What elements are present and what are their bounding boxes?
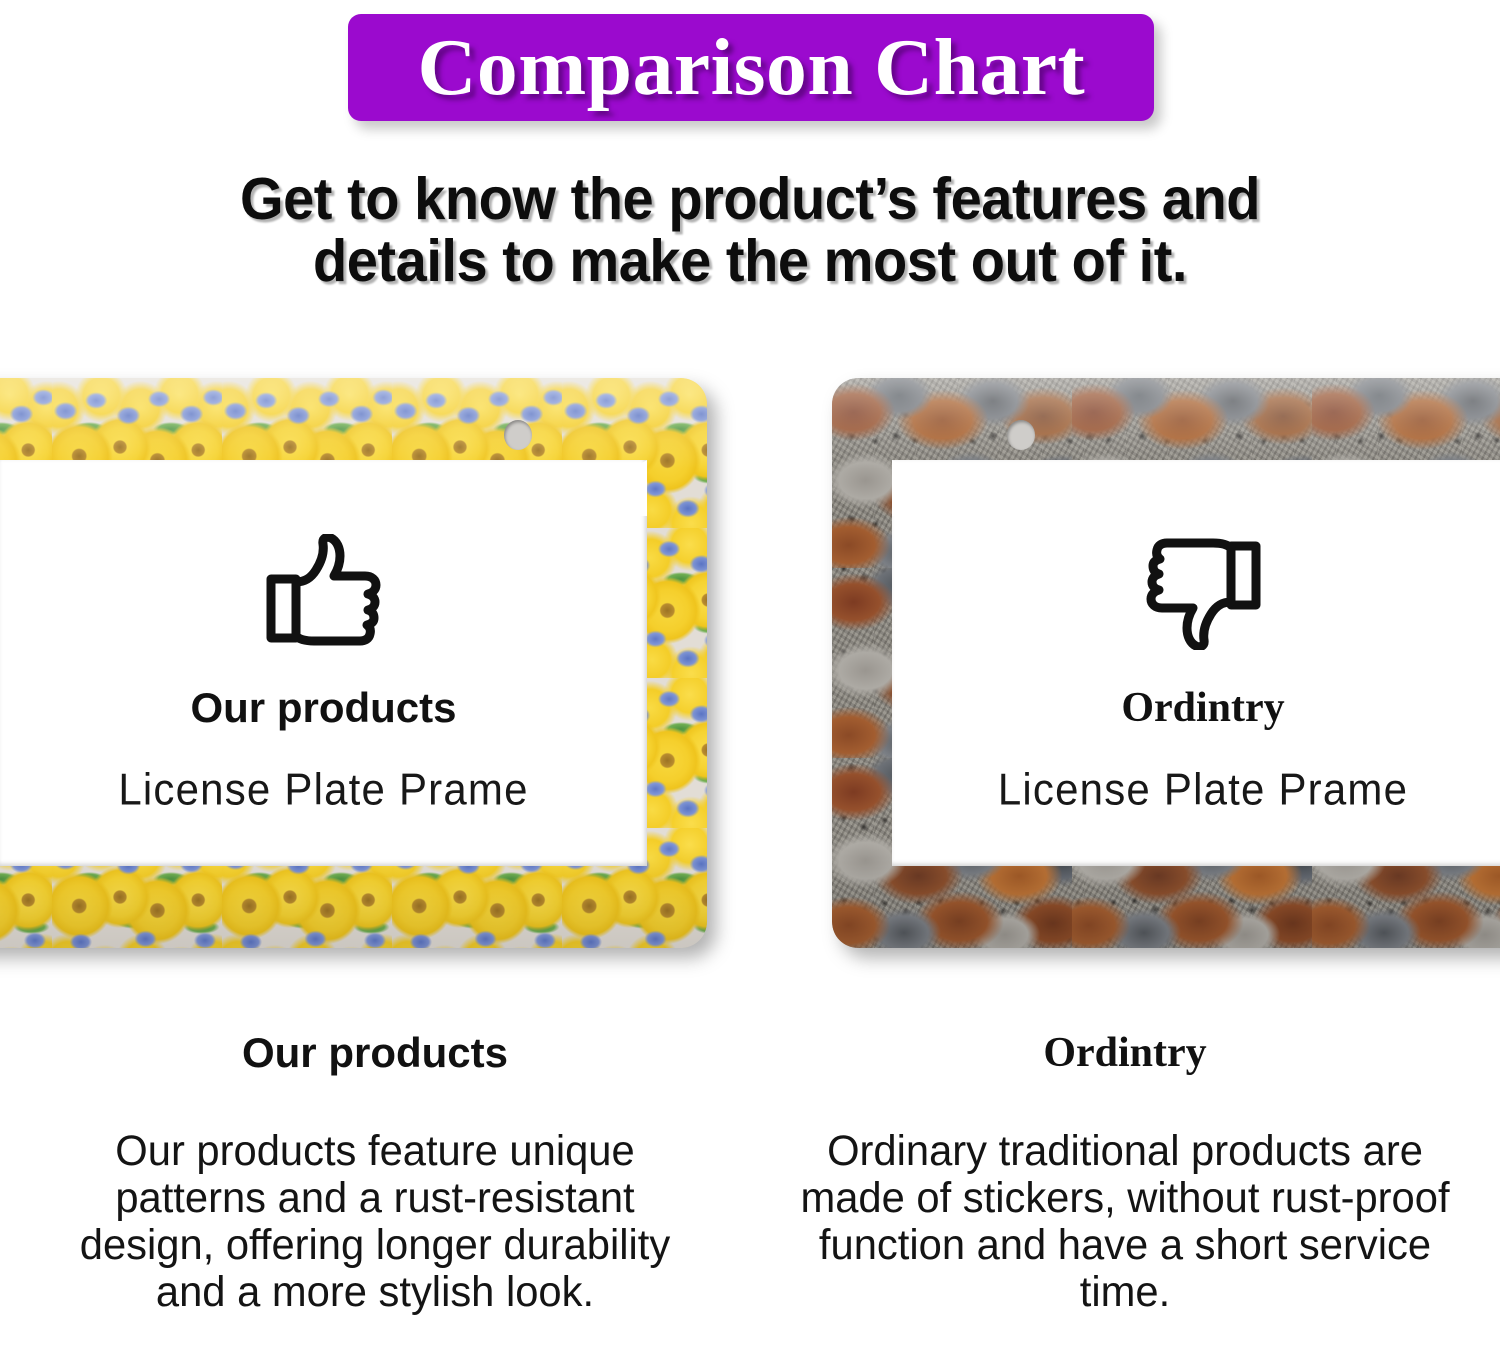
right-frame-subheading: License Plate Prame — [998, 765, 1408, 815]
left-frame-subheading: License Plate Prame — [118, 765, 528, 815]
comparison-description-row: Our products Our products feature unique… — [0, 1030, 1500, 1316]
plate-window-left: Our products License Plate Prame — [0, 460, 647, 866]
ordintry-heading: Ordintry — [750, 1030, 1500, 1076]
right-window-content: Ordintry License Plate Prame — [892, 460, 1500, 866]
right-frame-heading: Ordintry — [1121, 684, 1284, 732]
left-frame-heading: Our products — [190, 684, 456, 732]
ordinary-product-plate-frame: Ordintry License Plate Prame — [832, 378, 1500, 948]
subtitle-line-2: details to make the most out of it. — [38, 230, 1463, 292]
thumbs-down-icon — [1140, 534, 1266, 650]
thumbs-up-icon — [261, 534, 387, 650]
our-products-column: Our products Our products feature unique… — [0, 1030, 750, 1316]
subtitle-block: Get to know the product’s features and d… — [0, 168, 1500, 292]
mounting-hole — [1007, 420, 1035, 450]
product-comparison-images: Our products License Plate Prame — [0, 372, 1500, 972]
page-title: Comparison Chart — [417, 28, 1085, 108]
left-window-content: Our products License Plate Prame — [0, 460, 647, 866]
ordintry-column: Ordintry Ordinary traditional products a… — [750, 1030, 1500, 1316]
plate-window-right: Ordintry License Plate Prame — [892, 460, 1500, 866]
mounting-hole — [504, 420, 532, 450]
subtitle-line-1: Get to know the product’s features and — [38, 168, 1463, 230]
comparison-chart-title-badge: Comparison Chart — [348, 14, 1154, 121]
ordintry-description: Ordinary traditional products are made o… — [761, 1128, 1489, 1316]
our-products-heading: Our products — [0, 1030, 750, 1076]
our-product-plate-frame: Our products License Plate Prame — [0, 378, 707, 948]
our-products-description: Our products feature unique patterns and… — [11, 1128, 739, 1316]
